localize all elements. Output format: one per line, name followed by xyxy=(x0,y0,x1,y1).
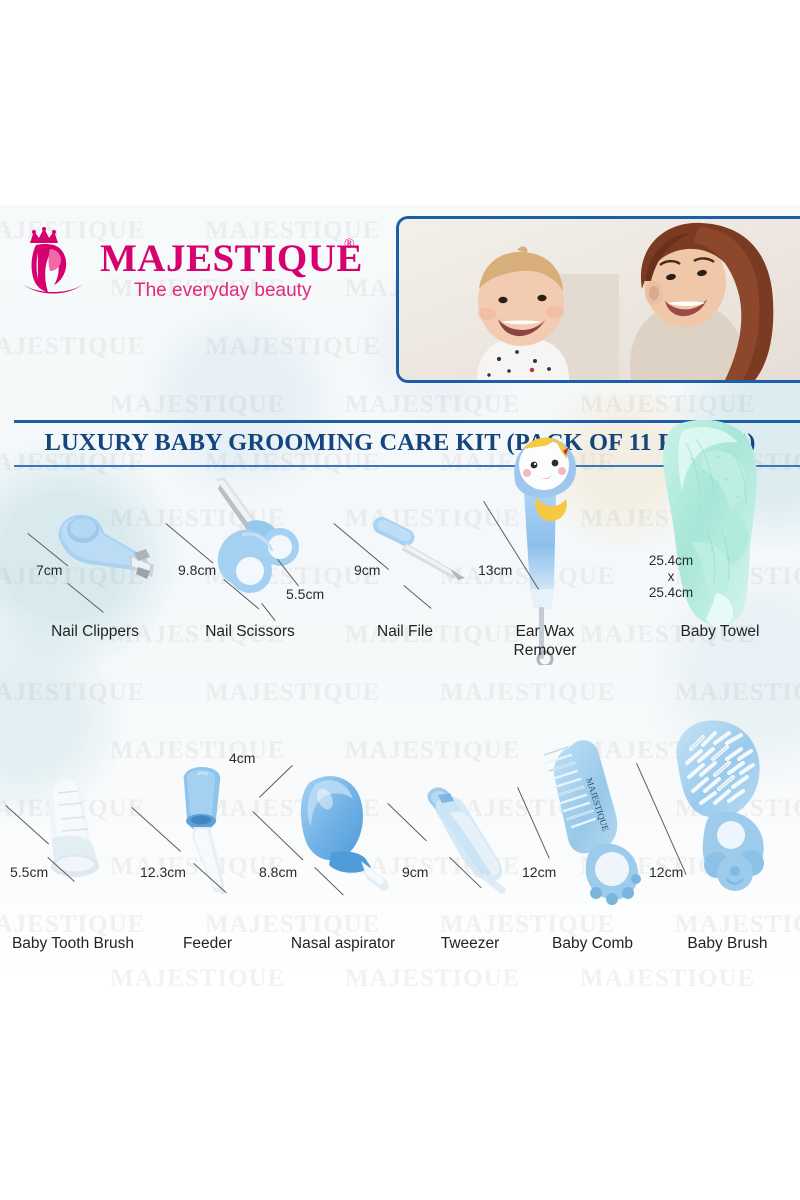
dimension-label: 13cm xyxy=(478,563,512,578)
product-nail-clippers: 7cm Nail Clippers xyxy=(20,475,170,725)
product-row-1: 7cm Nail Clippers 9.8cm 5 xyxy=(0,475,800,725)
nail-clippers-art xyxy=(46,503,164,589)
product-label: Ear Wax xyxy=(470,623,620,641)
brand-logo: MAJESTIQUE ® The everyday beauty xyxy=(14,223,344,313)
leader-line xyxy=(261,603,275,621)
brand-name: MAJESTIQUE xyxy=(100,239,363,278)
header: MAJESTIQUE ® The everyday beauty xyxy=(0,205,800,380)
baby-comb-art: MAJESTIQUE xyxy=(524,727,654,907)
baby-towel-art xyxy=(630,413,800,635)
product-label: Baby Towel xyxy=(640,623,800,641)
product-baby-brush: 12cm Baby Brush xyxy=(655,745,800,985)
tweezer-art xyxy=(414,783,524,901)
dimension-label: 7cm xyxy=(36,563,62,578)
product-label-line2: Remover xyxy=(470,642,620,660)
product-baby-comb: MAJESTIQUE 12cm Baby Comb xyxy=(530,745,655,985)
product-label: Nail Scissors xyxy=(170,623,330,641)
dimension-label: 12.3cm xyxy=(140,865,186,880)
nail-file-art xyxy=(366,517,478,583)
product-feeder: 12.3cm Feeder xyxy=(140,745,275,985)
product-nail-file: 9cm Nail File xyxy=(340,475,470,725)
dimension-label: 5.5cm xyxy=(286,587,324,602)
product-baby-tooth-brush: 5.5cm Baby Tooth Brush xyxy=(0,745,140,985)
product-baby-towel: 25.4cm x 25.4cm Baby Towel xyxy=(620,475,800,725)
hero-photo xyxy=(396,216,800,383)
product-infographic: MAJESTIQUEMAJESTIQUEMAJESTIQUEMAJESTIQUE… xyxy=(0,205,800,987)
dimension-label: 4cm xyxy=(229,751,255,766)
product-label: Baby Brush xyxy=(655,935,800,953)
crown-woman-silhouette-icon xyxy=(14,223,92,301)
product-label: Nasal aspirator xyxy=(273,935,413,953)
product-tweezer: 9cm Tweezer xyxy=(410,745,530,985)
dimension-label: 5.5cm xyxy=(10,865,48,880)
product-label: Feeder xyxy=(140,935,275,953)
product-row-2: 5.5cm Baby Tooth Brush 12.3cm Feeder xyxy=(0,745,800,985)
product-label: Nail Clippers xyxy=(20,623,170,641)
dimension-label: 25.4cm x 25.4cm xyxy=(634,553,708,601)
nasal-aspirator-art xyxy=(275,763,405,903)
dimension-label: 9cm xyxy=(402,865,428,880)
dimension-label: 12cm xyxy=(649,865,683,880)
product-label: Tweezer xyxy=(410,935,530,953)
watermark-text: MAJESTIQUE xyxy=(110,391,285,419)
product-nasal-aspirator: 8.8cm 4cm Nasal aspirator xyxy=(275,745,410,985)
product-label: Nail File xyxy=(340,623,470,641)
photo-subjects xyxy=(399,219,800,380)
leader-line xyxy=(403,585,431,609)
product-label: Baby Tooth Brush xyxy=(0,935,148,953)
product-nail-scissors: 9.8cm 5.5cm Nail Scissors xyxy=(170,475,330,725)
dimension-label: 8.8cm xyxy=(259,865,297,880)
brand-tagline: The everyday beauty xyxy=(134,280,311,302)
dimension-label: 9.8cm xyxy=(178,563,216,578)
dimension-label: 9cm xyxy=(354,563,380,578)
product-label: Baby Comb xyxy=(530,935,655,953)
product-ear-wax-remover: 13cm Ear Wax Remover xyxy=(470,475,620,725)
dimension-label: 12cm xyxy=(522,865,556,880)
registered-mark: ® xyxy=(344,237,355,253)
